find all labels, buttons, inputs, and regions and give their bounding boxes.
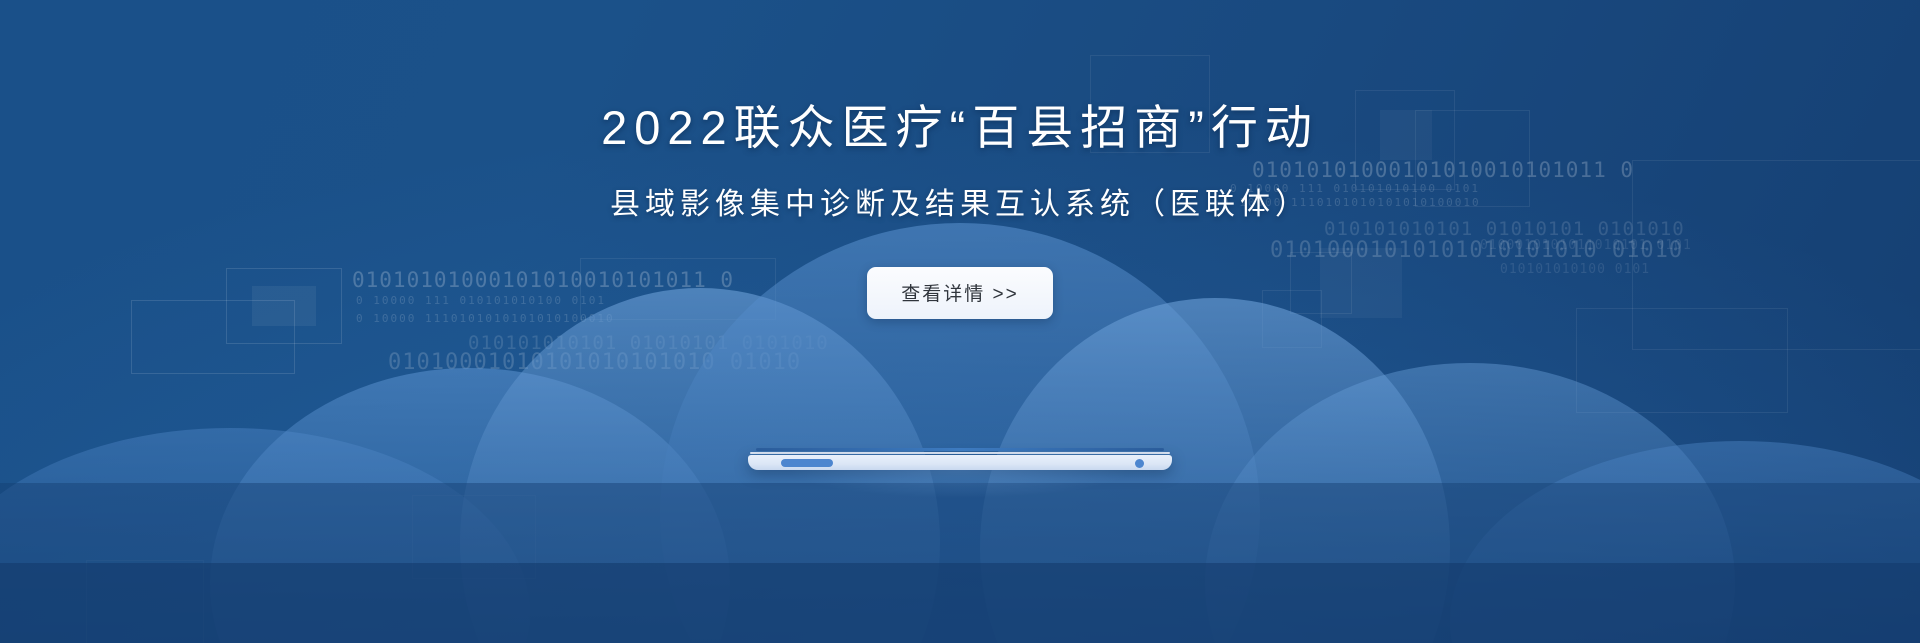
promo-banner: 01010101000101010010101011 0 0 10000 111… — [0, 0, 1920, 643]
device-illustration — [748, 448, 1172, 474]
view-details-button[interactable]: 查看详情 >> — [867, 267, 1052, 319]
device-slot-icon — [781, 459, 833, 467]
device-highlight-line — [750, 452, 1170, 454]
banner-content: 2022联众医疗“百县招商”行动 县域影像集中诊断及结果互认系统（医联体） 查看… — [0, 0, 1920, 643]
device-screen-edge — [756, 448, 1164, 451]
device-dot-icon — [1135, 459, 1144, 468]
banner-title: 2022联众医疗“百县招商”行动 — [601, 102, 1319, 154]
banner-subtitle: 县域影像集中诊断及结果互认系统（医联体） — [610, 179, 1310, 223]
device-glow — [788, 470, 1132, 498]
